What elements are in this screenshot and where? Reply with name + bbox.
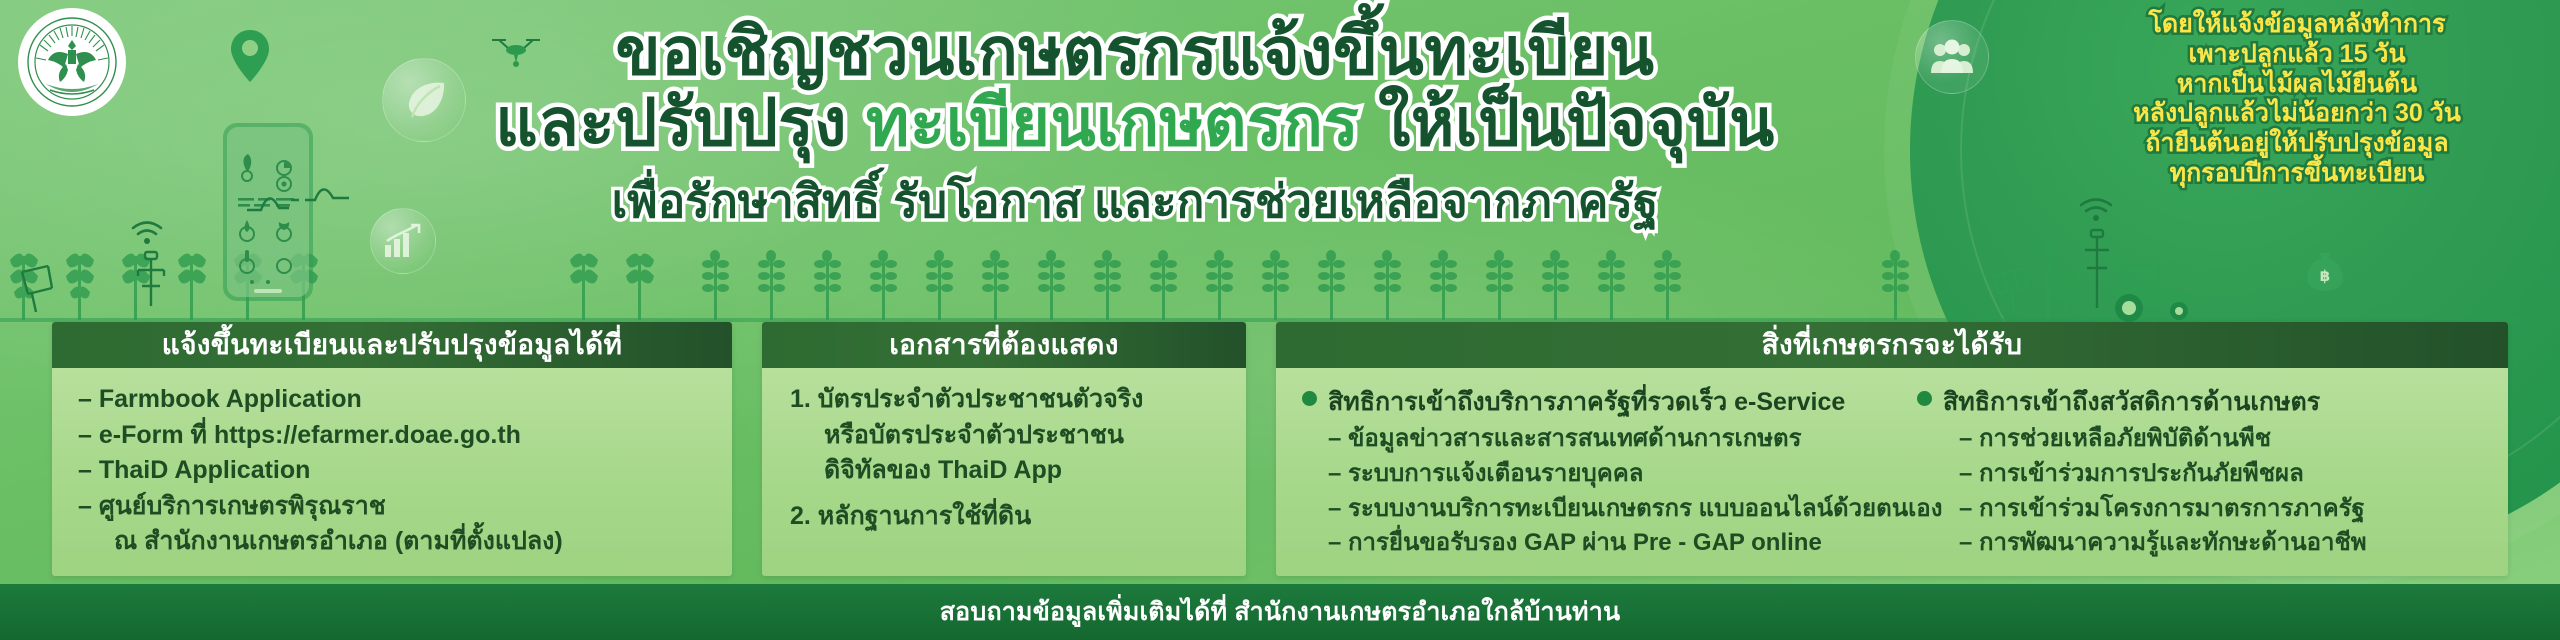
info-panels: แจ้งขึ้นทะเบียนและปรับปรุงข้อมูลได้ที่ –… xyxy=(0,322,2560,584)
solar-panel-icon-right xyxy=(1990,262,2110,322)
panel-1-item-4-continued: ณ สำนักงานเกษตรอำเภอ (ตามที่ตั้งแปลง) xyxy=(78,524,710,560)
headline-line-2-pre: และปรับปรุง xyxy=(495,85,866,159)
panel-where-to-register: แจ้งขึ้นทะเบียนและปรับปรุงข้อมูลได้ที่ –… xyxy=(52,322,732,576)
callout-line-4: หลังปลูกแล้วไม่น้อยกว่า 30 วัน xyxy=(2062,99,2532,129)
headline-line-2: และปรับปรุง ทะเบียนเกษตรกร ให้เป็นปัจจุบ… xyxy=(470,89,1800,156)
money-bag-icon: ฿ xyxy=(2305,245,2345,293)
panel-required-documents: เอกสารที่ต้องแสดง 1. บัตรประจำตัวประชาชน… xyxy=(762,322,1246,576)
panel-1-item-2[interactable]: – e-Form ที่ https://efarmer.doae.go.th xyxy=(78,418,710,454)
panel-1-title: แจ้งขึ้นทะเบียนและปรับปรุงข้อมูลได้ที่ xyxy=(162,323,623,367)
panel-2-item-2: 2. หลักฐานการใช้ที่ดิน xyxy=(788,499,1224,535)
garuda-seal-icon xyxy=(24,14,120,110)
panel-farmer-benefits: สิ่งที่เกษตรกรจะได้รับ สิทธิการเข้าถึงบร… xyxy=(1276,322,2508,576)
weather-station-icon xyxy=(128,248,174,310)
panel-1-header: แจ้งขึ้นทะเบียนและปรับปรุงข้อมูลได้ที่ xyxy=(52,322,732,368)
panel-1-item-1: – Farmbook Application xyxy=(78,382,710,418)
panel-3-col1-sub-2: – ระบบการแจ้งเตือนรายบุคคล xyxy=(1302,457,1871,492)
panel-3-col2-sub-4: – การพัฒนาความรู้และทักษะด้านอาชีพ xyxy=(1917,526,2486,561)
people-group-icon xyxy=(1929,39,1975,75)
people-group-bubble xyxy=(1915,20,1989,94)
government-emblem xyxy=(18,8,126,116)
panel-3-col1-bullet-row: สิทธิการเข้าถึงบริการภาครัฐที่รวดเร็ว e-… xyxy=(1302,382,1871,422)
panel-2-body: 1. บัตรประจำตัวประชาชนตัวจริง หรือบัตรปร… xyxy=(762,368,1246,544)
callout-line-2: เพาะปลูกแล้ว 15 วัน xyxy=(2062,40,2532,70)
callout-line-3: หากเป็นไม้ผลไม้ยืนต้น xyxy=(2062,70,2532,100)
headline-block: ขอเชิญชวนเกษตรกรแจ้งขึ้นทะเบียน และปรับป… xyxy=(470,18,1800,238)
panel-3-title: สิ่งที่เกษตรกรจะได้รับ xyxy=(1762,323,2023,367)
panel-3-col1-heading: สิทธิการเข้าถึงบริการภาครัฐที่รวดเร็ว e-… xyxy=(1328,382,1845,422)
wifi-icon xyxy=(130,218,164,246)
banner-root: ฿ ขอเชิญชวนเกษตรกรแจ้งขึ้นทะเบียน และปรั… xyxy=(0,0,2560,640)
panel-2-item-1-line3: ดิจิทัลของ ThaiD App xyxy=(788,453,1224,489)
callout-line-5: ถ้ายืนต้นอยู่ให้ปรับปรุงข้อมูล xyxy=(2062,129,2532,159)
panel-3-col2-sub-3: – การเข้าร่วมโครงการมาตรการภาครัฐ xyxy=(1917,492,2486,527)
panel-2-item-1: 1. บัตรประจำตัวประชาชนตัวจริง xyxy=(788,382,1224,418)
leaf-bubble xyxy=(382,58,466,142)
panel-3-column-eservice: สิทธิการเข้าถึงบริการภาครัฐที่รวดเร็ว e-… xyxy=(1302,382,1871,561)
callout-text-block: โดยให้แจ้งข้อมูลหลังทำการ เพาะปลูกแล้ว 1… xyxy=(2062,10,2532,189)
panel-3-col2-heading: สิทธิการเข้าถึงสวัสดิการด้านเกษตร xyxy=(1943,382,2320,422)
callout-line-1: โดยให้แจ้งข้อมูลหลังทำการ xyxy=(2062,10,2532,40)
wifi-icon-right xyxy=(2078,195,2114,223)
panel-3-column-welfare: สิทธิการเข้าถึงสวัสดิการด้านเกษตร – การช… xyxy=(1881,382,2486,561)
footer-bar: สอบถามข้อมูลเพิ่มเติมได้ที่ สำนักงานเกษต… xyxy=(0,584,2560,640)
panel-3-col2-bullet-row: สิทธิการเข้าถึงสวัสดิการด้านเกษตร xyxy=(1917,382,2486,422)
footer-text: สอบถามข้อมูลเพิ่มเติมได้ที่ สำนักงานเกษต… xyxy=(940,592,1621,632)
solar-panel-icon xyxy=(18,262,76,318)
panel-1-item-4: – ศูนย์บริการเกษตรพิรุณราช xyxy=(78,489,710,525)
bullet-dot-icon xyxy=(1302,391,1317,406)
svg-text:฿: ฿ xyxy=(2320,268,2330,285)
bar-chart-icon xyxy=(383,223,423,259)
headline-line-2-accent: ทะเบียนเกษตรกร xyxy=(866,85,1359,159)
headline-line-3: เพื่อรักษาสิทธิ์ รับโอกาส และการช่วยเหลื… xyxy=(470,165,1800,238)
leaf-icon xyxy=(400,79,448,121)
headline-line-1: ขอเชิญชวนเกษตรกรแจ้งขึ้นทะเบียน xyxy=(470,18,1800,85)
panel-3-col1-sub-4: – การยื่นขอรับรอง GAP ผ่าน Pre - GAP onl… xyxy=(1302,526,1871,561)
panel-3-col1-sub-3: – ระบบงานบริการทะเบียนเกษตรกร แบบออนไลน์… xyxy=(1302,492,1871,527)
panel-3-body: สิทธิการเข้าถึงบริการภาครัฐที่รวดเร็ว e-… xyxy=(1276,368,2508,571)
bar-chart-bubble xyxy=(370,208,436,274)
panel-3-col2-sub-1: – การช่วยเหลือภัยพิบัติด้านพืช xyxy=(1917,422,2486,457)
panel-1-item-3: – ThaiD Application xyxy=(78,453,710,489)
panel-2-title: เอกสารที่ต้องแสดง xyxy=(889,323,1119,367)
panel-3-col2-sub-2: – การเข้าร่วมการประกันภัยพืชผล xyxy=(1917,457,2486,492)
panel-2-header: เอกสารที่ต้องแสดง xyxy=(762,322,1246,368)
panel-3-col1-sub-1: – ข้อมูลข่าวสารและสารสนเทศด้านการเกษตร xyxy=(1302,422,1871,457)
panel-3-header: สิ่งที่เกษตรกรจะได้รับ xyxy=(1276,322,2508,368)
panel-2-item-1-line2: หรือบัตรประจำตัวประชาชน xyxy=(788,418,1224,454)
callout-line-6: ทุกรอบปีการขึ้นทะเบียน xyxy=(2062,159,2532,189)
headline-line-2-post: ให้เป็นปัจจุบัน xyxy=(1359,85,1774,159)
signal-wave-decoration xyxy=(245,178,365,218)
bullet-dot-icon-2 xyxy=(1917,391,1932,406)
location-pin-icon xyxy=(230,28,270,84)
panel-1-body: – Farmbook Application – e-Form ที่ http… xyxy=(52,368,732,570)
